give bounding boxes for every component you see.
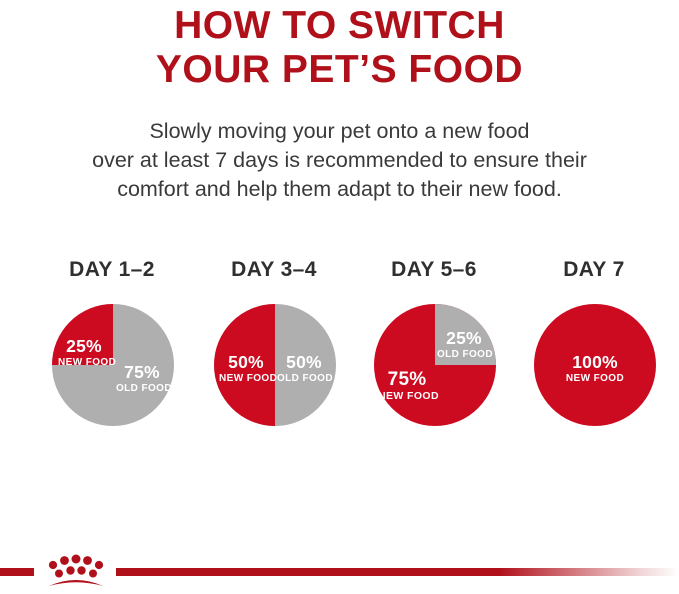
pie-chart-day-7: DAY 7 100% NEW FOOD [514, 258, 674, 438]
pie-label-day-5-6: DAY 5–6 [354, 258, 514, 282]
crown-icon [40, 548, 112, 592]
footer-brand-bar [0, 548, 679, 594]
intro-line-3: comfort and help them adapt to their new… [0, 175, 679, 204]
pie-graphic-day-1-2: 25% NEW FOOD 75% OLD FOOD [52, 304, 174, 426]
footer-rule-right [116, 568, 679, 576]
slice-old-food [435, 304, 496, 365]
page-title-line-2: YOUR PET’S FOOD [0, 48, 679, 92]
slice-new-food [52, 304, 113, 365]
slice-new-food [534, 304, 656, 426]
pie-chart-row: DAY 1–2 25% NEW FOOD 75% OLD FOOD DAY 3–… [0, 258, 679, 438]
royal-canin-crown-logo [40, 548, 112, 592]
pie-graphic-day-3-4: 50% NEW FOOD 50% OLD FOOD [214, 304, 336, 426]
pie-svg-day-5-6 [374, 304, 496, 426]
page-title-line-1: HOW TO SWITCH [0, 4, 679, 48]
pie-label-day-7: DAY 7 [514, 258, 674, 282]
pie-label-day-1-2: DAY 1–2 [32, 258, 192, 282]
pie-svg-day-7 [534, 304, 656, 426]
pie-svg-day-3-4 [214, 304, 336, 426]
pie-label-day-3-4: DAY 3–4 [194, 258, 354, 282]
pie-svg-day-1-2 [52, 304, 174, 426]
pie-graphic-day-5-6: 25% OLD FOOD 75% NEW FOOD [374, 304, 496, 426]
pie-chart-day-5-6: DAY 5–6 25% OLD FOOD 75% NEW FOOD [354, 258, 514, 438]
slice-new-food [214, 304, 275, 426]
intro-paragraph: Slowly moving your pet onto a new food o… [0, 117, 679, 204]
infographic-root: { "title": { "line1": "HOW TO SWITCH", "… [0, 0, 679, 594]
intro-line-1: Slowly moving your pet onto a new food [0, 117, 679, 146]
footer-rule-left [0, 568, 34, 576]
pie-chart-day-1-2: DAY 1–2 25% NEW FOOD 75% OLD FOOD [32, 258, 192, 438]
page-title: HOW TO SWITCH YOUR PET’S FOOD [0, 4, 679, 92]
pie-chart-day-3-4: DAY 3–4 50% NEW FOOD 50% OLD FOOD [194, 258, 354, 438]
intro-line-2: over at least 7 days is recommended to e… [0, 146, 679, 175]
pie-graphic-day-7: 100% NEW FOOD [534, 304, 656, 426]
